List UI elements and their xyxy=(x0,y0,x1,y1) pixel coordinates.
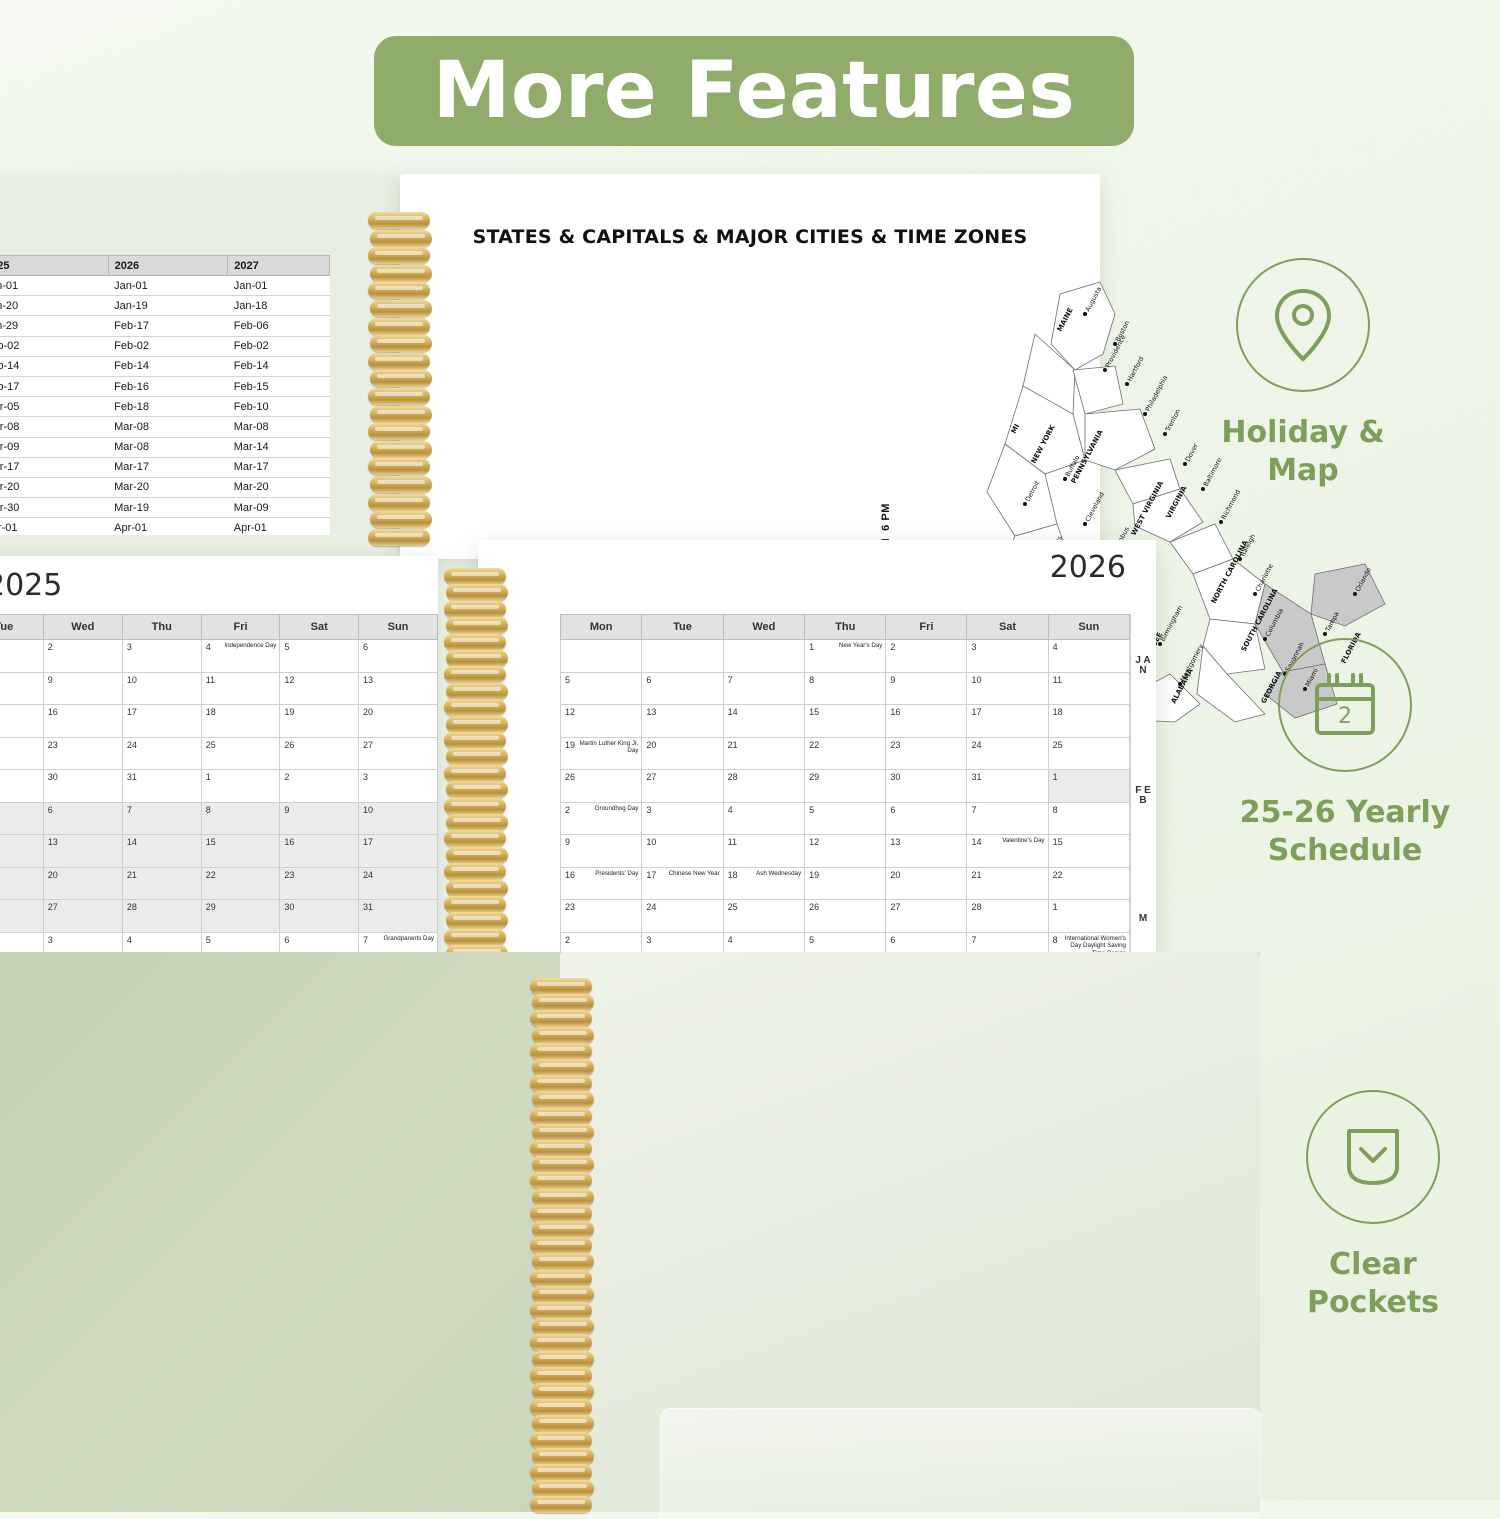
spiral-coil xyxy=(370,476,432,493)
day-number: 25 xyxy=(728,902,738,912)
day-number: 4 xyxy=(728,935,733,945)
calendar-day-cell[interactable]: 6 xyxy=(886,802,967,835)
day-number: 1 xyxy=(1053,772,1058,782)
calendar-day-cell[interactable]: 7 xyxy=(723,672,804,705)
day-number: 23 xyxy=(48,740,58,750)
calendar-week-row: 16Presidents' Day17Chinese New Year18Ash… xyxy=(561,867,1130,900)
calendar-day-cell[interactable]: 1 xyxy=(201,770,280,803)
day-number: 14 xyxy=(728,707,738,717)
calendar-grid-2026: MonTueWedThuFriSatSun 1New Year's Day234… xyxy=(560,614,1130,998)
calendar-day-cell[interactable]: 12 xyxy=(561,705,642,738)
day-number: 1 xyxy=(206,772,211,782)
day-number: 17 xyxy=(363,837,373,847)
day-number: 21 xyxy=(728,740,738,750)
spiral-coil xyxy=(444,863,506,880)
holiday-cell: Feb-02 xyxy=(0,336,108,356)
spiral-coil xyxy=(530,1367,592,1384)
spiral-coil xyxy=(446,912,508,929)
calendar-day-cell[interactable]: 17 xyxy=(359,835,438,868)
calendar-day-cell[interactable]: 5 xyxy=(280,640,359,673)
weekday-header: Wed xyxy=(723,615,804,640)
spiral-coil xyxy=(532,994,594,1011)
calendar-day-cell[interactable]: 12 xyxy=(805,835,886,868)
spiral-coil xyxy=(532,1124,594,1141)
calendar-day-cell[interactable]: 3 xyxy=(359,770,438,803)
day-number: 13 xyxy=(890,837,900,847)
day-number: 16 xyxy=(890,707,900,717)
holiday-cell: Jan-01 xyxy=(228,276,330,296)
day-number: 11 xyxy=(206,675,215,685)
spiral-coil xyxy=(444,929,506,946)
calendar-week-row: 2021222324 xyxy=(0,867,438,900)
calendar-day-cell[interactable]: 9 xyxy=(886,672,967,705)
table-row: Jan-01Jan-01Jan-01 xyxy=(0,276,330,296)
column-header-2027: 2027 xyxy=(228,256,330,276)
holiday-label: New Year's Day xyxy=(839,642,882,650)
day-number: 28 xyxy=(728,772,738,782)
calendar-day-cell[interactable] xyxy=(561,640,642,673)
calendar-day-cell[interactable]: 27 xyxy=(359,737,438,770)
calendar-day-cell[interactable]: 31 xyxy=(359,900,438,933)
calendar-day-cell[interactable]: 23 xyxy=(280,867,359,900)
table-row: Mar-08Mar-08Mar-08 xyxy=(0,417,330,437)
day-number: 6 xyxy=(48,805,53,815)
holiday-cell: Feb-17 xyxy=(108,316,228,336)
calendar-day-cell[interactable]: 19 xyxy=(805,867,886,900)
calendar-week-row: 567891011 xyxy=(561,672,1130,705)
calendar-day-cell[interactable]: 24 xyxy=(642,900,723,933)
holiday-cell: Feb-02 xyxy=(228,336,330,356)
calendar-day-cell[interactable]: 13 xyxy=(359,672,438,705)
day-number: 26 xyxy=(565,772,575,782)
day-number: 30 xyxy=(284,902,294,912)
holiday-cell: Mar-09 xyxy=(228,498,330,518)
calendar-day-cell[interactable]: 23 xyxy=(561,900,642,933)
spiral-coil xyxy=(530,1172,592,1189)
table-row: Mar-05Feb-18Feb-10 xyxy=(0,397,330,417)
day-number: 6 xyxy=(646,675,651,685)
spiral-coil xyxy=(532,1415,594,1432)
table-row: Feb-02Feb-02Feb-02 xyxy=(0,336,330,356)
month-tab-jan: J A N xyxy=(1131,656,1155,676)
map-page: STATES & CAPITALS & MAJOR CITIES & TIME … xyxy=(400,174,1100,559)
calendar-day-cell[interactable]: 2 xyxy=(886,640,967,673)
holiday-label: Chinese New Year xyxy=(669,870,720,878)
day-number: 5 xyxy=(565,675,570,685)
day-number: 13 xyxy=(646,707,656,717)
calendar-day-cell[interactable]: 17 xyxy=(967,705,1048,738)
day-number: 31 xyxy=(971,772,981,782)
holiday-cell: Jan-19 xyxy=(108,296,228,316)
spiral-coil xyxy=(444,896,506,913)
calendar-day-cell[interactable] xyxy=(0,802,43,835)
spiral-coil xyxy=(532,1189,594,1206)
calendar-day-cell[interactable]: 9 xyxy=(43,672,122,705)
day-number: 1 xyxy=(1053,902,1058,912)
day-number: 13 xyxy=(363,675,373,685)
calendar-day-cell[interactable]: 18 xyxy=(1048,705,1129,738)
calendar-day-cell[interactable]: 24 xyxy=(122,737,201,770)
spiral-coil xyxy=(444,666,506,683)
calendar-day-cell[interactable]: 22 xyxy=(1048,867,1129,900)
day-number: 25 xyxy=(1053,740,1063,750)
table-row: Jan-29Feb-17Feb-06 xyxy=(0,316,330,336)
calendar-day-cell[interactable]: 20 xyxy=(642,737,723,770)
calendar-day-cell[interactable]: 17 xyxy=(122,705,201,738)
calendar-day-cell[interactable]: 4 xyxy=(1048,640,1129,673)
weekday-header: Fri xyxy=(886,615,967,640)
day-number: 14 xyxy=(127,837,137,847)
holiday-cell: Mar-30 xyxy=(0,498,108,518)
spiral-coil xyxy=(446,748,508,765)
spiral-coil xyxy=(532,1286,594,1303)
weekday-header: Thu xyxy=(805,615,886,640)
holiday-cell: Jan-20 xyxy=(0,296,108,316)
spiral-coil xyxy=(530,1496,592,1513)
calendar-day-cell[interactable]: 6 xyxy=(642,672,723,705)
day-number: 24 xyxy=(127,740,137,750)
calendar-day-cell[interactable]: 23 xyxy=(886,737,967,770)
calendar-day-cell[interactable]: 28 xyxy=(723,770,804,803)
calendar-day-cell[interactable]: 11 xyxy=(723,835,804,868)
calendar-week-row: 678910 xyxy=(0,802,438,835)
day-number: 23 xyxy=(565,902,575,912)
spiral-coil xyxy=(532,1091,594,1108)
calendar-icon: 2 xyxy=(1278,638,1412,772)
calendar-day-cell[interactable]: 26 xyxy=(561,770,642,803)
calendar-day-cell[interactable]: 7 xyxy=(122,802,201,835)
calendar-day-cell[interactable]: 20 xyxy=(886,867,967,900)
calendar-day-cell[interactable]: 8 xyxy=(1048,802,1129,835)
day-number: 12 xyxy=(809,837,819,847)
day-number: 24 xyxy=(646,902,656,912)
holiday-label: Independence Day xyxy=(224,642,276,650)
day-number: 23 xyxy=(284,870,294,880)
weekday-header: Sun xyxy=(359,615,438,640)
feature-holiday-map: Holiday & Map xyxy=(1188,258,1418,489)
spiral-coil xyxy=(532,1221,594,1238)
calendar-day-cell[interactable]: 6 xyxy=(359,640,438,673)
calendar-day-cell[interactable]: 3 xyxy=(122,640,201,673)
calendar-day-cell[interactable]: 31 xyxy=(967,770,1048,803)
calendar-glyph: 2 xyxy=(1305,665,1385,745)
calendar-day-cell[interactable]: 25 xyxy=(1048,737,1129,770)
calendar-day-cell[interactable]: 16Presidents' Day xyxy=(561,867,642,900)
calendar-day-cell[interactable]: 5 xyxy=(561,672,642,705)
calendar-day-cell[interactable] xyxy=(0,705,43,738)
weekday-header: Wed xyxy=(43,615,122,640)
calendar-day-cell[interactable]: 27 xyxy=(43,900,122,933)
table-row: Jan-20Jan-19Jan-18 xyxy=(0,296,330,316)
calendar-day-cell[interactable]: 14 xyxy=(122,835,201,868)
calendar-day-cell[interactable]: 17Chinese New Year xyxy=(642,867,723,900)
spiral-coil xyxy=(530,1237,592,1254)
day-number: 4 xyxy=(206,642,211,652)
calendar-grid-2025: TueWedThuFriSatSun 234Independence Day56… xyxy=(0,614,438,998)
holiday-cell: Feb-06 xyxy=(228,316,330,336)
calendar-day-cell[interactable]: 28 xyxy=(967,900,1048,933)
day-number: 7 xyxy=(363,935,368,945)
calendar-day-cell[interactable]: 23 xyxy=(43,737,122,770)
calendar-day-cell[interactable]: 1New Year's Day xyxy=(805,640,886,673)
holiday-cell: Apr-01 xyxy=(228,518,330,535)
calendar-day-cell[interactable]: 29 xyxy=(201,900,280,933)
holiday-cell: Jan-01 xyxy=(0,276,108,296)
calendar-day-cell[interactable] xyxy=(723,640,804,673)
day-number: 8 xyxy=(1053,805,1058,815)
day-number: 23 xyxy=(890,740,900,750)
calendar-day-cell[interactable]: 26 xyxy=(805,900,886,933)
day-number: 3 xyxy=(646,935,651,945)
calendar-day-cell[interactable]: 30 xyxy=(280,900,359,933)
calendar-day-cell[interactable] xyxy=(642,640,723,673)
calendar-day-cell[interactable]: 9 xyxy=(280,802,359,835)
spiral-coil xyxy=(368,353,430,370)
calendar-day-cell[interactable]: 20 xyxy=(359,705,438,738)
calendar-day-cell[interactable]: 13 xyxy=(886,835,967,868)
calendar-day-cell[interactable]: 14 xyxy=(723,705,804,738)
calendar-week-row: 12131415161718 xyxy=(561,705,1130,738)
calendar-day-cell[interactable]: 26 xyxy=(280,737,359,770)
calendar-day-cell[interactable]: 11 xyxy=(201,672,280,705)
holiday-label: Ash Wednesday xyxy=(756,870,801,878)
weekday-header: Sat xyxy=(280,615,359,640)
calendar-day-cell[interactable]: 25 xyxy=(201,737,280,770)
weekday-header-row-2025: TueWedThuFriSatSun xyxy=(0,615,438,640)
table-row: Feb-14Feb-14Feb-14 xyxy=(0,356,330,376)
day-number: 28 xyxy=(971,902,981,912)
calendar-body-2026: 1New Year's Day2345678910111213141516171… xyxy=(561,640,1130,998)
table-header-row: 2025 2026 2027 xyxy=(0,256,330,276)
spiral-coil xyxy=(446,847,508,864)
day-number: 2 xyxy=(890,642,895,652)
holiday-cell: Feb-10 xyxy=(228,397,330,417)
holiday-label: Valentine's Day xyxy=(1002,837,1044,845)
calendar-week-row: 2627282930311 xyxy=(561,770,1130,803)
pocket-chevron-icon xyxy=(1306,1090,1440,1224)
calendar-day-cell[interactable] xyxy=(0,770,43,803)
day-number: 11 xyxy=(728,837,737,847)
day-number: 16 xyxy=(565,870,575,880)
day-number: 25 xyxy=(206,740,216,750)
calendar-day-cell[interactable]: 3 xyxy=(967,640,1048,673)
holiday-cell: Feb-18 xyxy=(108,397,228,417)
calendar-day-cell[interactable]: 10 xyxy=(122,672,201,705)
calendar-day-cell[interactable]: 3 xyxy=(642,802,723,835)
column-header-2026: 2026 xyxy=(108,256,228,276)
spiral-coil xyxy=(368,494,430,511)
calendar-day-cell[interactable]: 11 xyxy=(1048,672,1129,705)
pocket-glyph xyxy=(1335,1119,1411,1195)
day-number: 28 xyxy=(127,902,137,912)
day-number: 22 xyxy=(206,870,216,880)
calendar-day-cell[interactable] xyxy=(0,835,43,868)
calendar-week-row: 1314151617 xyxy=(0,835,438,868)
day-number: 21 xyxy=(127,870,137,880)
day-number: 9 xyxy=(565,837,570,847)
day-number: 22 xyxy=(1053,870,1063,880)
calendar-day-cell[interactable]: 14Valentine's Day xyxy=(967,835,1048,868)
svg-text:Cleveland: Cleveland xyxy=(1084,491,1106,523)
holiday-cell: Mar-08 xyxy=(228,417,330,437)
calendar-day-cell[interactable]: 24 xyxy=(359,867,438,900)
day-number: 5 xyxy=(809,805,814,815)
calendar-day-cell[interactable]: 4Independence Day xyxy=(201,640,280,673)
calendar-year-2025: 2025 xyxy=(0,568,62,603)
day-number: 31 xyxy=(127,772,137,782)
calendar-day-cell[interactable]: 15 xyxy=(201,835,280,868)
calendar-day-cell[interactable]: 24 xyxy=(967,737,1048,770)
spiral-coil xyxy=(530,1075,592,1092)
day-number: 17 xyxy=(971,707,981,717)
spiral-coil xyxy=(368,423,430,440)
spiral-coil xyxy=(368,318,430,335)
calendar-day-cell[interactable]: 30 xyxy=(886,770,967,803)
day-number: 10 xyxy=(646,837,656,847)
day-number: 20 xyxy=(646,740,656,750)
day-number: 29 xyxy=(809,772,819,782)
calendar-day-cell[interactable]: 1 xyxy=(1048,770,1129,803)
calendar-day-cell[interactable]: 22 xyxy=(805,737,886,770)
calendar-day-cell[interactable]: 1 xyxy=(1048,900,1129,933)
calendar-day-cell[interactable]: 2 xyxy=(43,640,122,673)
holiday-cell: Mar-08 xyxy=(108,437,228,457)
spiral-coil xyxy=(530,1140,592,1157)
calendar-day-cell[interactable]: 2Groundhog Day xyxy=(561,802,642,835)
spiral-coil xyxy=(368,388,430,405)
calendar-day-cell[interactable]: 21 xyxy=(723,737,804,770)
spiral-coil xyxy=(446,650,508,667)
calendar-day-cell[interactable]: 5 xyxy=(805,802,886,835)
calendar-day-cell[interactable]: 30 xyxy=(43,770,122,803)
calendar-page-2026: 2026 MonTueWedThuFriSatSun 1New Year's D… xyxy=(478,540,1156,956)
calendar-day-cell[interactable] xyxy=(0,867,43,900)
holiday-label: Groundhog Day xyxy=(595,805,639,813)
calendar-day-cell[interactable] xyxy=(0,900,43,933)
calendar-day-cell[interactable]: 10 xyxy=(359,802,438,835)
spiral-coil xyxy=(446,716,508,733)
month-tab-mar: M xyxy=(1131,914,1155,924)
calendar-day-cell[interactable]: 29 xyxy=(805,770,886,803)
calendar-day-cell[interactable]: 16 xyxy=(280,835,359,868)
calendar-day-cell[interactable]: 18 xyxy=(201,705,280,738)
calendar-day-cell[interactable]: 8 xyxy=(805,672,886,705)
feature-label-yearly-schedule: 25-26 Yearly Schedule xyxy=(1230,794,1460,869)
calendar-day-cell[interactable]: 18Ash Wednesday xyxy=(723,867,804,900)
clear-pocket xyxy=(660,1408,1261,1519)
calendar-day-cell[interactable]: 28 xyxy=(122,900,201,933)
holiday-cell: Apr-01 xyxy=(108,518,228,535)
map-title: STATES & CAPITALS & MAJOR CITIES & TIME … xyxy=(400,226,1100,248)
calendar-year-2026: 2026 xyxy=(1050,550,1126,585)
weekday-header: Fri xyxy=(201,615,280,640)
calendar-day-cell[interactable]: 31 xyxy=(122,770,201,803)
day-number: 24 xyxy=(363,870,373,880)
calendar-day-cell[interactable]: 21 xyxy=(967,867,1048,900)
calendar-day-cell[interactable]: 4 xyxy=(723,802,804,835)
holiday-cell: Mar-20 xyxy=(228,477,330,497)
calendar-day-cell[interactable]: 15 xyxy=(1048,835,1129,868)
spiral-coil xyxy=(444,568,506,585)
calendar-day-cell[interactable]: 9 xyxy=(561,835,642,868)
spiral-coil xyxy=(530,1205,592,1222)
spiral-coil xyxy=(532,1027,594,1044)
calendar-day-cell[interactable]: 12 xyxy=(280,672,359,705)
calendar-day-cell[interactable]: 15 xyxy=(805,705,886,738)
calendar-day-cell[interactable]: 6 xyxy=(43,802,122,835)
day-number: 4 xyxy=(127,935,132,945)
calendar-day-cell[interactable]: 13 xyxy=(642,705,723,738)
spiral-coil xyxy=(370,441,432,458)
calendar-week-row: 1New Year's Day234 xyxy=(561,640,1130,673)
calendar-day-cell[interactable]: 27 xyxy=(642,770,723,803)
calendar-week-row: 2Groundhog Day345678 xyxy=(561,802,1130,835)
holiday-cell: Feb-15 xyxy=(228,376,330,396)
spiral-coil xyxy=(446,880,508,897)
calendar-day-cell[interactable]: 8 xyxy=(201,802,280,835)
day-number: 21 xyxy=(971,870,981,880)
calendar-day-cell[interactable] xyxy=(0,737,43,770)
day-number: 27 xyxy=(890,902,900,912)
spiral-coil xyxy=(446,781,508,798)
spiral-coil xyxy=(446,683,508,700)
holiday-cell: Apr-01 xyxy=(0,518,108,535)
weekday-header: Thu xyxy=(122,615,201,640)
calendar-day-cell[interactable]: 19 xyxy=(280,705,359,738)
calendar-day-cell[interactable]: 10 xyxy=(642,835,723,868)
calendar-day-cell[interactable]: 16 xyxy=(886,705,967,738)
weekday-header-row-2026: MonTueWedThuFriSatSun xyxy=(561,615,1130,640)
day-number: 31 xyxy=(363,902,373,912)
spiral-coil xyxy=(530,1334,592,1351)
calendar-day-cell[interactable]: 25 xyxy=(723,900,804,933)
calendar-day-cell[interactable]: 22 xyxy=(201,867,280,900)
spiral-coil xyxy=(530,1108,592,1125)
calendar-week-row: 234Independence Day56 xyxy=(0,640,438,673)
spiral-coil xyxy=(530,1432,592,1449)
day-number: 3 xyxy=(363,772,368,782)
calendar-day-cell[interactable]: 13 xyxy=(43,835,122,868)
calendar-page-2025: 2025 TueWedThuFriSatSun 234Independence … xyxy=(0,556,438,956)
svg-text:Hartford: Hartford xyxy=(1126,355,1146,383)
spiral-coil xyxy=(368,529,430,546)
day-number: 18 xyxy=(206,707,216,717)
calendar-day-cell[interactable]: 16 xyxy=(43,705,122,738)
spiral-coil xyxy=(368,458,430,475)
day-number: 27 xyxy=(646,772,656,782)
calendar-day-cell[interactable] xyxy=(0,640,43,673)
calendar-day-cell[interactable]: 21 xyxy=(122,867,201,900)
calendar-day-cell[interactable] xyxy=(0,672,43,705)
calendar-day-cell[interactable]: 2 xyxy=(280,770,359,803)
calendar-day-cell[interactable]: 7 xyxy=(967,802,1048,835)
calendar-day-cell[interactable]: 20 xyxy=(43,867,122,900)
holiday-label: Martin Luther King Jr. Day xyxy=(568,740,638,755)
day-number: 7 xyxy=(971,935,976,945)
spiral-coil xyxy=(444,601,506,618)
calendar-day-cell[interactable]: 10 xyxy=(967,672,1048,705)
map-pin-glyph xyxy=(1267,285,1339,365)
day-number: 2 xyxy=(565,935,570,945)
spiral-coil xyxy=(532,1448,594,1465)
day-number: 3 xyxy=(48,935,53,945)
svg-text:Richmond: Richmond xyxy=(1220,488,1242,521)
day-number: 24 xyxy=(971,740,981,750)
calendar-day-cell[interactable]: 27 xyxy=(886,900,967,933)
spiral-coil xyxy=(530,1270,592,1287)
calendar-day-cell[interactable]: 19Martin Luther King Jr. Day xyxy=(561,737,642,770)
holiday-cell: Feb-14 xyxy=(228,356,330,376)
